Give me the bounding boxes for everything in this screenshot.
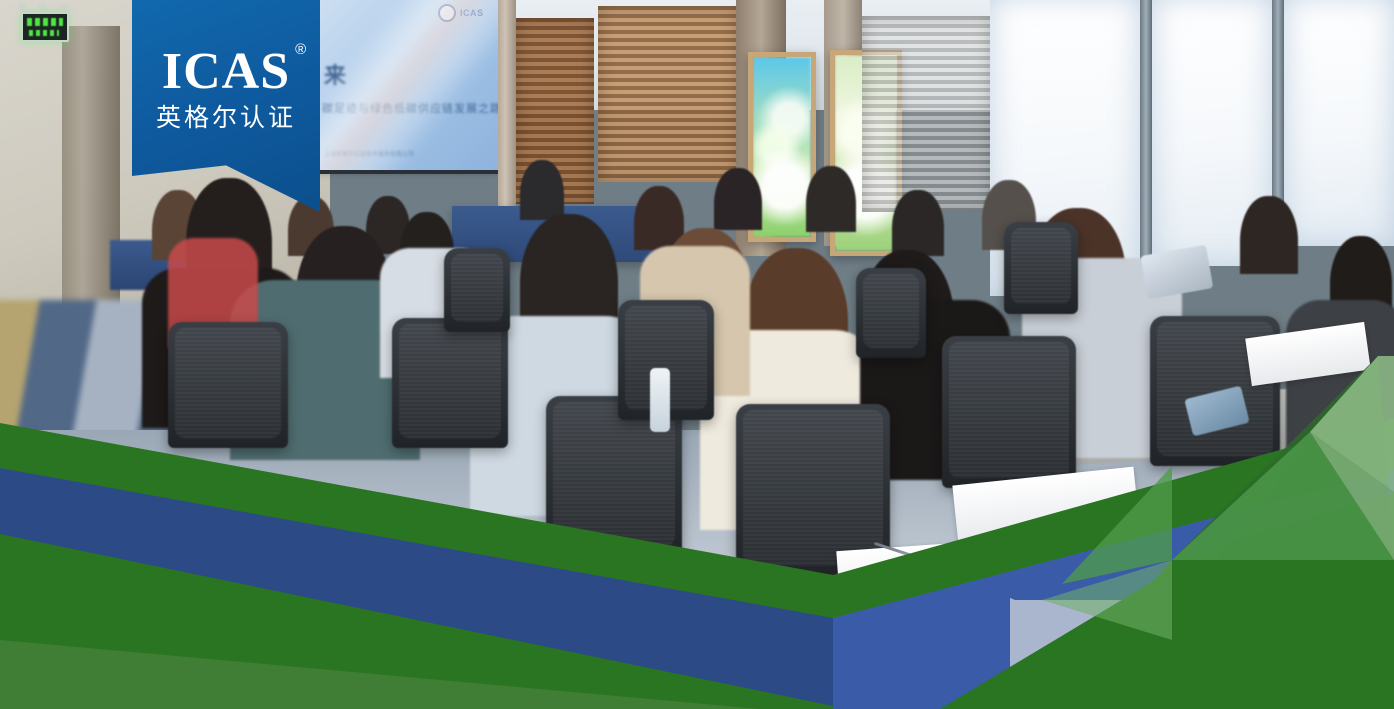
paper-stack <box>836 541 989 605</box>
attendee <box>892 190 944 256</box>
registered-trademark-icon: ® <box>295 42 307 57</box>
office-chair <box>392 318 508 448</box>
office-chair <box>856 268 926 358</box>
office-chair <box>942 336 1076 488</box>
icas-seminar-banner: EXIT ICAS 来 碳足迹与绿色低碳供应链发展之路 上海英格尔认证技术服务有… <box>0 0 1394 709</box>
wall-pillar <box>498 0 516 226</box>
exit-sign-icon: EXIT <box>21 12 69 42</box>
icas-wordmark: ICAS ® <box>162 46 290 98</box>
window-blind <box>862 16 992 212</box>
attendee <box>520 160 564 220</box>
attendee <box>1240 196 1298 274</box>
screen-glare <box>312 0 498 170</box>
floor <box>0 430 1394 709</box>
attendee <box>806 166 856 232</box>
icas-wordmark-text: ICAS <box>162 43 290 100</box>
attendee <box>520 214 618 332</box>
icas-chinese-name: 英格尔认证 <box>156 105 296 130</box>
office-chair <box>1004 222 1078 314</box>
window <box>1284 0 1394 246</box>
window-blind <box>598 6 738 182</box>
office-chair <box>168 322 288 448</box>
office-chair <box>444 248 510 332</box>
attendee <box>714 168 762 230</box>
water-bottle <box>650 368 670 432</box>
window-mullion <box>1140 0 1152 296</box>
projection-screen: ICAS 来 碳足迹与绿色低碳供应链发展之路 上海英格尔认证技术服务有限公司 <box>312 0 498 170</box>
